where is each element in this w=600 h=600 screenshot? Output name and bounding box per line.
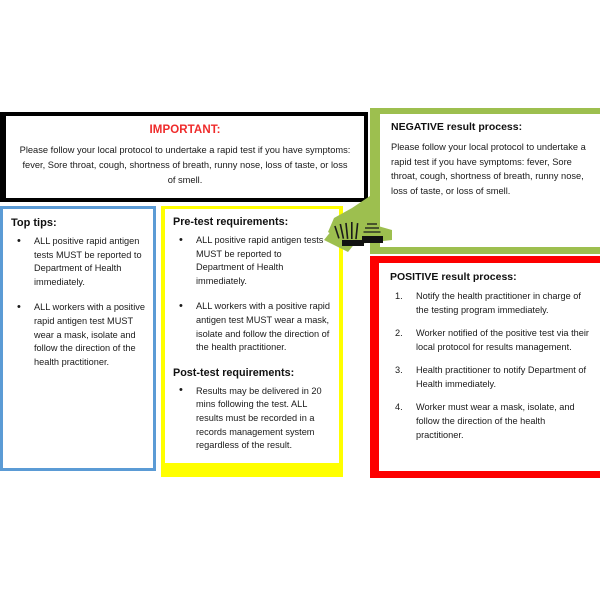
positive-result-title: POSITIVE result process: bbox=[390, 271, 592, 283]
positive-result-steps-list: 1. Notify the health practitioner in cha… bbox=[390, 289, 592, 442]
infographic-canvas: IMPORTANT: Please follow your local prot… bbox=[0, 0, 600, 600]
test-requirements-panel-inner: Pre-test requirements: • ALL positive ra… bbox=[165, 209, 339, 463]
important-body-text: Please follow your local protocol to und… bbox=[18, 143, 352, 188]
step-text: Notify the health practitioner in charge… bbox=[416, 291, 581, 315]
test-requirements-panel: Pre-test requirements: • ALL positive ra… bbox=[161, 206, 343, 477]
list-item: 4. Worker must wear a mask, isolate, and… bbox=[390, 400, 592, 442]
pre-test-title: Pre-test requirements: bbox=[173, 216, 331, 228]
list-item: 1. Notify the health practitioner in cha… bbox=[390, 289, 592, 317]
post-test-list: • Results may be delivered in 20 mins fo… bbox=[172, 385, 331, 453]
bullet-icon: • bbox=[179, 234, 183, 248]
step-number: 1. bbox=[395, 289, 409, 303]
list-item-text: Results may be delivered in 20 mins foll… bbox=[196, 386, 322, 450]
positive-result-panel: POSITIVE result process: 1. Notify the h… bbox=[370, 256, 600, 478]
bullet-icon: • bbox=[17, 235, 21, 249]
pre-test-list: • ALL positive rapid antigen tests MUST … bbox=[172, 234, 331, 355]
top-tips-panel: Top tips: • ALL positive rapid antigen t… bbox=[0, 206, 156, 471]
negative-result-panel: NEGATIVE result process: Please follow y… bbox=[370, 108, 600, 254]
step-number: 2. bbox=[395, 326, 409, 340]
important-banner-inner: IMPORTANT: Please follow your local prot… bbox=[6, 116, 364, 198]
bullet-icon: • bbox=[17, 301, 21, 315]
important-banner: IMPORTANT: Please follow your local prot… bbox=[0, 112, 368, 202]
important-title: IMPORTANT: bbox=[18, 122, 352, 138]
bullet-icon: • bbox=[179, 300, 183, 314]
list-item: • Results may be delivered in 20 mins fo… bbox=[172, 385, 331, 453]
step-number: 3. bbox=[395, 363, 409, 377]
list-item: 3. Health practitioner to notify Departm… bbox=[390, 363, 592, 391]
list-item: • ALL positive rapid antigen tests MUST … bbox=[10, 235, 147, 289]
positive-result-panel-inner: POSITIVE result process: 1. Notify the h… bbox=[379, 263, 600, 471]
bullet-icon: • bbox=[179, 384, 183, 398]
list-item: 2. Worker notified of the positive test … bbox=[390, 326, 592, 354]
list-item-text: ALL positive rapid antigen tests MUST be… bbox=[34, 236, 142, 287]
step-text: Worker must wear a mask, isolate, and fo… bbox=[416, 402, 575, 440]
step-text: Worker notified of the positive test via… bbox=[416, 328, 589, 352]
step-text: Health practitioner to notify Department… bbox=[416, 365, 586, 389]
top-tips-list: • ALL positive rapid antigen tests MUST … bbox=[10, 235, 147, 369]
list-item: • ALL workers with a positive rapid anti… bbox=[172, 300, 331, 354]
negative-result-body-text: Please follow your local protocol to und… bbox=[391, 140, 590, 198]
list-item-text: ALL workers with a positive rapid antige… bbox=[196, 301, 330, 352]
top-tips-title: Top tips: bbox=[11, 217, 147, 229]
negative-result-title: NEGATIVE result process: bbox=[391, 121, 590, 133]
list-item-text: ALL workers with a positive rapid antige… bbox=[34, 302, 145, 366]
step-number: 4. bbox=[395, 400, 409, 414]
list-item: • ALL workers with a positive rapid anti… bbox=[10, 301, 147, 369]
list-item: • ALL positive rapid antigen tests MUST … bbox=[172, 234, 331, 288]
list-item-text: ALL positive rapid antigen tests MUST be… bbox=[196, 235, 323, 286]
negative-result-panel-inner: NEGATIVE result process: Please follow y… bbox=[380, 114, 600, 247]
post-test-title: Post-test requirements: bbox=[173, 367, 331, 379]
